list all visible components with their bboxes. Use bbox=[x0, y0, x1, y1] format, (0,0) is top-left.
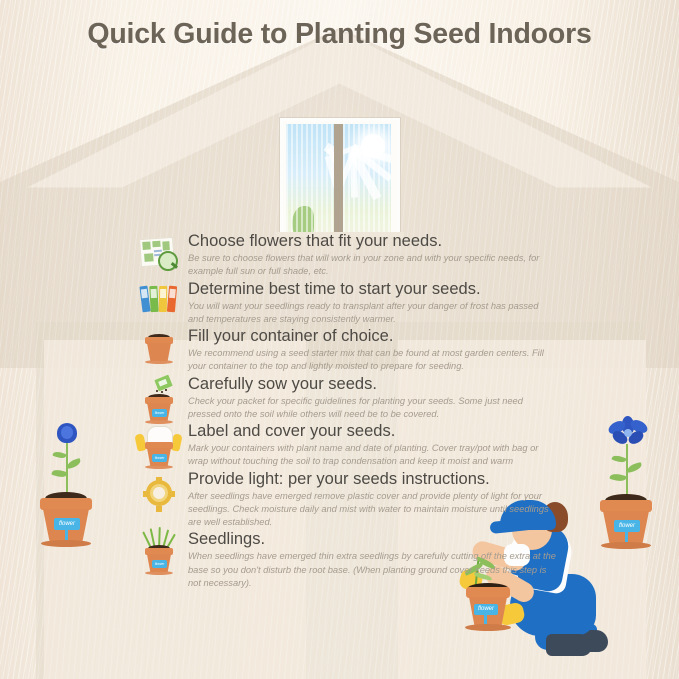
step-body: You will want your seedlings ready to tr… bbox=[188, 300, 556, 326]
step-body: After seedlings have emerged remove plas… bbox=[188, 490, 556, 530]
steps-list: Choose flowers that fit your needs. Be s… bbox=[136, 232, 556, 590]
step-item: Provide light: per your seeds instructio… bbox=[136, 470, 556, 530]
step-body: Be sure to choose flowers that will work… bbox=[188, 252, 556, 278]
page-title: Quick Guide to Planting Seed Indoors bbox=[0, 18, 679, 51]
filled-pot-icon bbox=[136, 329, 182, 373]
step-item: flower Seedlings. When seedlings have em… bbox=[136, 530, 556, 590]
step-body: Check your packet for specific guideline… bbox=[188, 395, 556, 421]
step-item: Fill your container of choice. We recomm… bbox=[136, 327, 556, 374]
step-item: flower Carefully sow your seeds. Check y… bbox=[136, 375, 556, 422]
infographic-poster: Quick Guide to Planting Seed Indoors bbox=[0, 0, 679, 679]
step-body: Mark your containers with plant name and… bbox=[188, 442, 556, 468]
plant-label: flower bbox=[152, 560, 167, 568]
sun-ring-icon bbox=[136, 472, 182, 516]
step-heading: Carefully sow your seeds. bbox=[188, 375, 556, 394]
step-heading: Provide light: per your seeds instructio… bbox=[188, 470, 556, 489]
plant-label: flower bbox=[152, 454, 167, 462]
step-heading: Fill your container of choice. bbox=[188, 327, 556, 346]
window-blinds-left bbox=[286, 124, 334, 236]
step-heading: Choose flowers that fit your needs. bbox=[188, 232, 556, 251]
step-item: flower Label and cover your seeds. Mark … bbox=[136, 422, 556, 469]
seed-packets-icon bbox=[136, 282, 182, 326]
held-seedling-pot: flower bbox=[466, 584, 516, 644]
seed-catalog-icon bbox=[136, 234, 182, 278]
step-item: Choose flowers that fit your needs. Be s… bbox=[136, 232, 556, 279]
window-mullion bbox=[334, 124, 343, 236]
window-blinds-right bbox=[343, 124, 391, 236]
window-pane-right bbox=[343, 124, 391, 236]
step-heading: Seedlings. bbox=[188, 530, 556, 549]
seed-packet bbox=[154, 374, 172, 391]
plant-label: flower bbox=[152, 409, 167, 417]
sowing-seeds-icon: flower bbox=[136, 377, 182, 421]
step-heading: Determine best time to start your seeds. bbox=[188, 280, 556, 299]
step-heading: Label and cover your seeds. bbox=[188, 422, 556, 441]
plant-label: flower bbox=[474, 604, 498, 615]
plant-label: flower bbox=[54, 518, 80, 530]
sunny-window-illustration bbox=[280, 118, 400, 236]
step-body: When seedlings have emerged thin extra s… bbox=[188, 550, 556, 590]
seedlings-pot-icon: flower bbox=[136, 532, 182, 576]
step-body: We recommend using a seed starter mix th… bbox=[188, 347, 556, 373]
step-item: Determine best time to start your seeds.… bbox=[136, 280, 556, 327]
covered-pot-gloves-icon: flower bbox=[136, 424, 182, 468]
window-pane-left bbox=[286, 124, 334, 236]
